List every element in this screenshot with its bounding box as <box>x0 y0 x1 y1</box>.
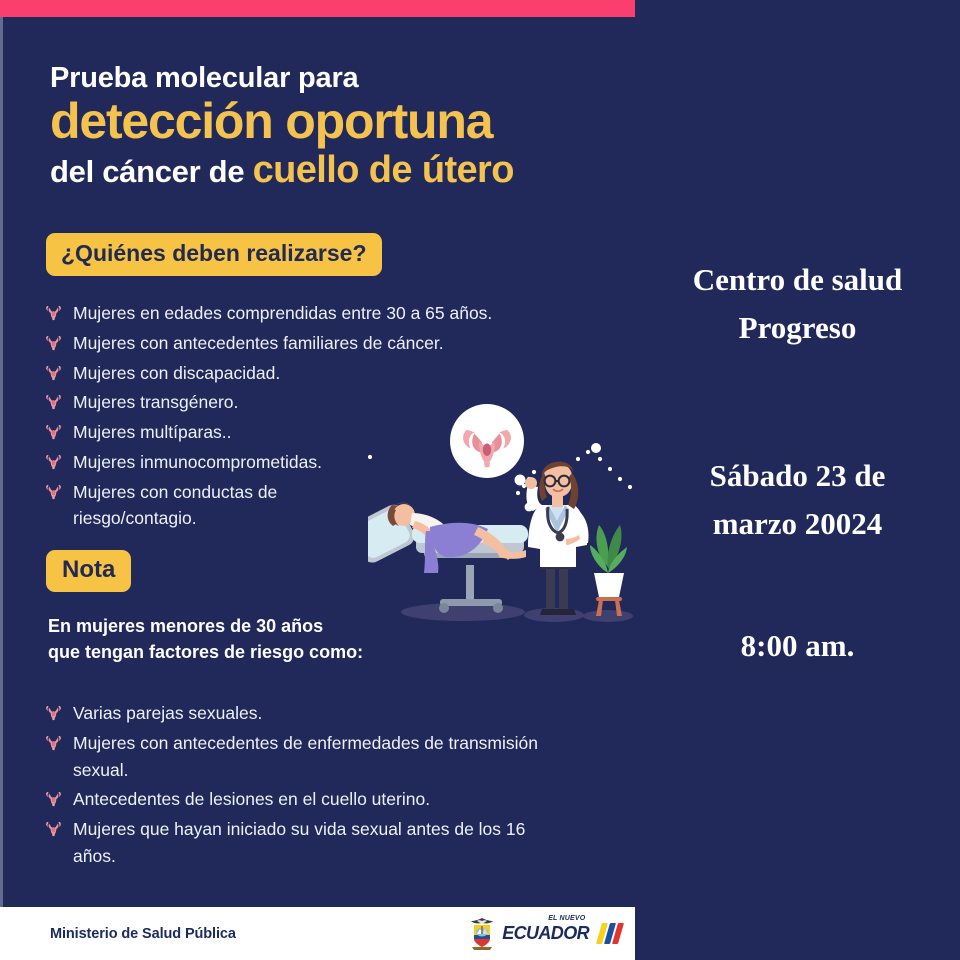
list-item: Mujeres con discapacidad. <box>44 360 604 387</box>
left-content-column: Prueba molecular para detección oportuna… <box>0 17 635 907</box>
list-item: Varias parejas sexuales. <box>44 700 604 727</box>
doctor-figure <box>525 462 589 615</box>
ecuador-wordmark: EL NUEVO ECUADOR <box>502 924 589 943</box>
list-item-label: Mujeres con conductas de riesgo/contagio… <box>73 479 353 533</box>
event-info-column: Centro de salud Progreso Sábado 23 de ma… <box>635 0 960 960</box>
headline-line-1: Prueba molecular para <box>50 64 650 93</box>
logo-name: ECUADOR <box>502 923 589 943</box>
potted-plant <box>590 525 627 616</box>
note-badge: Nota <box>46 550 131 592</box>
event-date: Sábado 23 de marzo 20024 <box>635 452 960 548</box>
list-item: Mujeres con antecedentes familiares de c… <box>44 330 604 357</box>
headline-line-3: del cáncer de cuello de útero <box>50 151 650 189</box>
ministry-label: Ministerio de Salud Pública <box>50 926 236 942</box>
event-date-line-1: Sábado 23 de <box>643 452 952 500</box>
event-date-line-2: marzo 20024 <box>643 500 952 548</box>
headline-line-2: detección oportuna <box>50 95 650 148</box>
uterus-icon <box>44 304 63 322</box>
event-venue-line-2: Progreso <box>643 304 952 352</box>
list-item-label: Antecedentes de lesiones en el cuello ut… <box>73 786 430 813</box>
list-item-label: Mujeres con antecedentes familiares de c… <box>73 330 444 357</box>
clinic-illustration <box>368 397 648 637</box>
uterus-icon <box>44 790 63 808</box>
uterus-icon <box>44 453 63 471</box>
event-time: 8:00 am. <box>635 628 960 664</box>
uterus-icon <box>44 393 63 411</box>
uterus-icon <box>44 704 63 722</box>
uterus-icon <box>44 364 63 382</box>
event-venue-line-1: Centro de salud <box>643 256 952 304</box>
poster-canvas: Prueba molecular para detección oportuna… <box>0 0 960 960</box>
list-item-label: Mujeres multíparas.. <box>73 419 232 446</box>
ecuador-logo: EL NUEVO ECUADOR <box>469 917 621 951</box>
list-item: Antecedentes de lesiones en el cuello ut… <box>44 786 604 813</box>
list-item: Mujeres que hayan iniciado su vida sexua… <box>44 816 604 870</box>
flag-stripes-icon <box>596 923 624 944</box>
list-item-label: Mujeres que hayan iniciado su vida sexua… <box>73 816 553 870</box>
list-item-label: Mujeres transgénero. <box>73 389 238 416</box>
logo-tagline: EL NUEVO <box>548 915 585 922</box>
who-section-badge: ¿Quiénes deben realizarse? <box>46 233 382 276</box>
list-item: Mujeres con antecedentes de enfermedades… <box>44 730 604 784</box>
uterus-icon <box>44 483 63 501</box>
list-item-label: Varias parejas sexuales. <box>73 700 262 727</box>
risk-factor-list: Varias parejas sexuales. Mujeres con ant… <box>44 700 604 873</box>
list-item-label: Mujeres con discapacidad. <box>73 360 280 387</box>
uterus-icon <box>44 334 63 352</box>
note-body-line-2: que tengan factores de riesgo como: <box>48 639 468 665</box>
event-venue: Centro de salud Progreso <box>635 256 960 352</box>
headline-line-3-accent: cuello de útero <box>253 149 514 191</box>
uterus-icon <box>44 734 63 752</box>
list-item-label: Mujeres inmunocomprometidas. <box>73 449 322 476</box>
headline-line-3-prefix: del cáncer de <box>50 154 244 189</box>
list-item-label: Mujeres en edades comprendidas entre 30 … <box>73 300 492 327</box>
uterus-icon <box>44 820 63 838</box>
top-pink-bar <box>0 0 635 17</box>
footer-bar: Ministerio de Salud Pública EL NUEVO ECU… <box>0 907 635 960</box>
coat-of-arms-icon <box>469 917 495 951</box>
headline-block: Prueba molecular para detección oportuna… <box>50 64 650 189</box>
list-item: Mujeres en edades comprendidas entre 30 … <box>44 300 604 327</box>
list-item-label: Mujeres con antecedentes de enfermedades… <box>73 730 543 784</box>
uterus-icon <box>44 423 63 441</box>
